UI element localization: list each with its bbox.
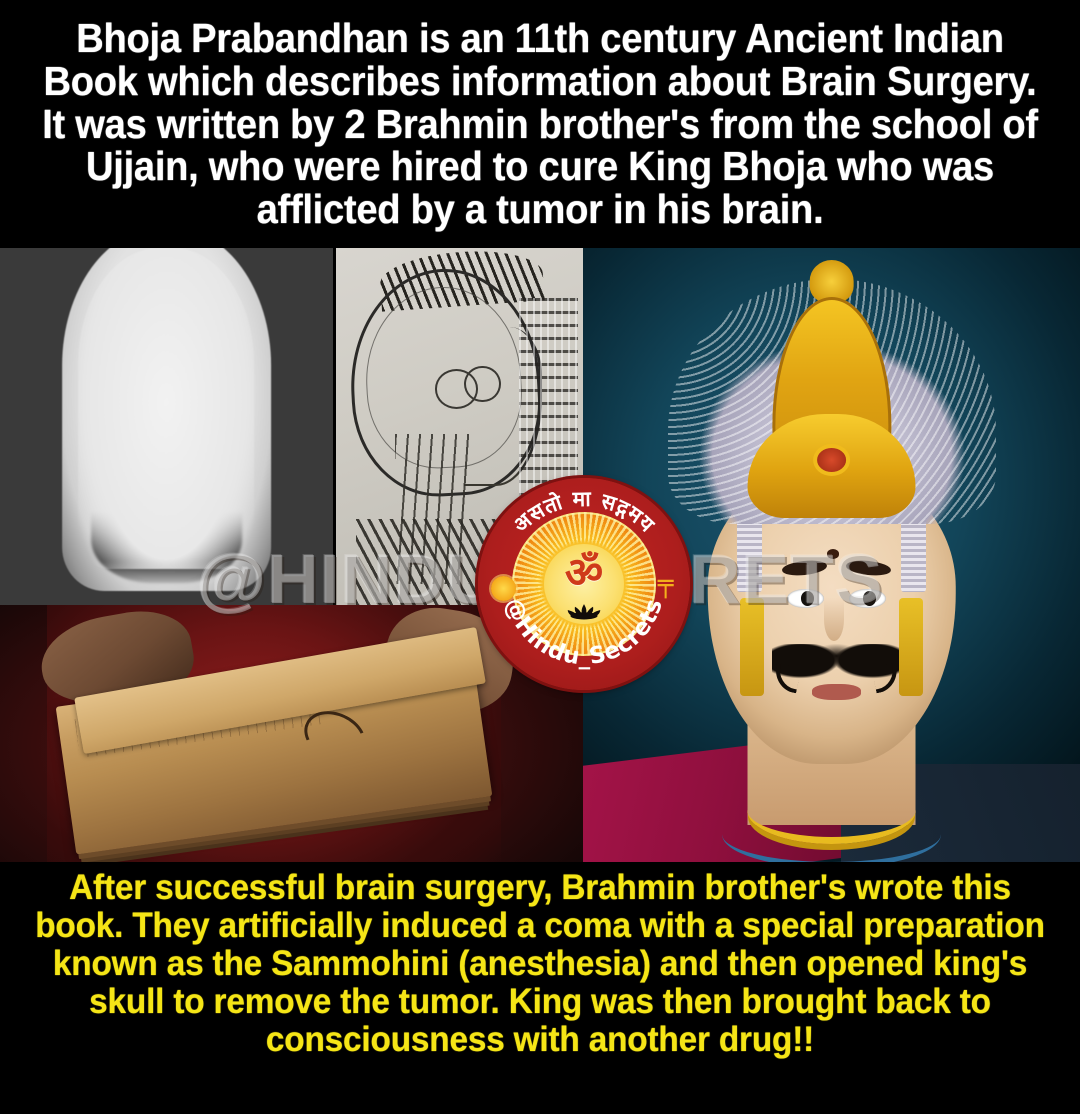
portrait-tilak-mark [827, 549, 840, 559]
drawing-eye-socket-2 [464, 366, 500, 402]
top-caption-band: Bhoja Prabandhan is an 11th century Anci… [0, 0, 1080, 248]
logo-arc-bottom-svg: @Hindu_Secrets [478, 478, 690, 690]
portrait-crown-gem [817, 448, 847, 473]
portrait-mouth [812, 684, 862, 700]
portrait-nose [824, 598, 844, 641]
xray-skull-shape [62, 248, 272, 591]
meme-image: Bhoja Prabandhan is an 11th century Anci… [0, 0, 1080, 1114]
portrait-bead-necklace [722, 801, 941, 862]
xray-jaw-shadow [91, 511, 242, 584]
logo-handle-text: @Hindu_Secrets [500, 595, 668, 670]
portrait-moustache [772, 644, 901, 687]
svg-text:@Hindu_Secrets: @Hindu_Secrets [500, 595, 668, 670]
portrait-ear-ornament-left [740, 598, 765, 696]
xray-lesion-marking [133, 248, 209, 314]
bottom-caption-text: After successful brain surgery, Brahmin … [32, 868, 1047, 1058]
hindu-secrets-logo-badge: असतो मा सद्गमय ॐ ╤ [478, 478, 690, 690]
bottom-caption-band: After successful brain surgery, Brahmin … [0, 862, 1080, 1114]
top-caption-text: Bhoja Prabandhan is an 11th century Anci… [38, 17, 1042, 230]
skull-xray-image [0, 248, 333, 605]
portrait-ear-ornament-right [899, 598, 924, 696]
